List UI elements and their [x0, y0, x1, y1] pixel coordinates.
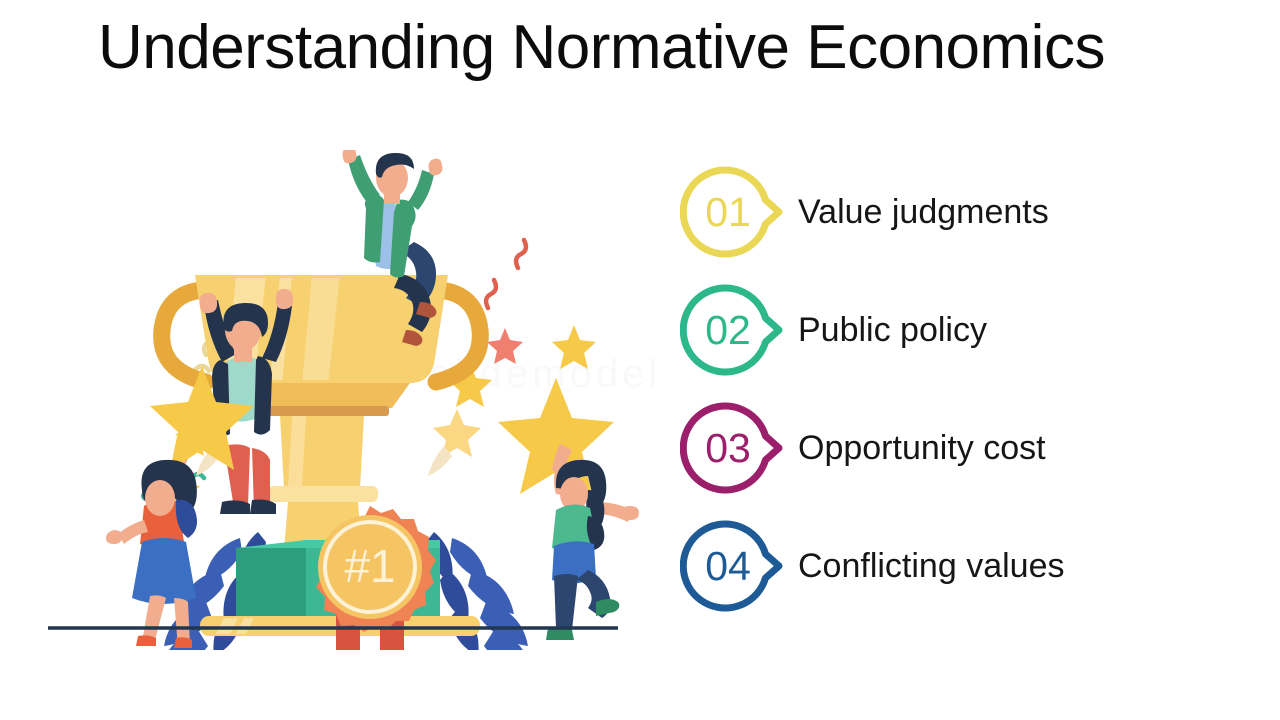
slide-canvas: Understanding Normative Economics slidem… [0, 0, 1280, 720]
step-badge-03: 03 [680, 396, 784, 500]
person-right-shoe-2 [596, 599, 619, 616]
step-item-03[interactable]: 03 Opportunity cost [680, 396, 1240, 500]
step-number-02: 02 [680, 278, 776, 382]
confetti-shooting-star [433, 409, 481, 457]
step-item-04[interactable]: 04 Conflicting values [680, 514, 1240, 618]
medal-label: #1 [344, 540, 395, 592]
confetti-right [486, 240, 526, 308]
step-number-04: 04 [680, 514, 776, 618]
step-label-02: Public policy [798, 313, 987, 347]
step-item-02[interactable]: 02 Public policy [680, 278, 1240, 382]
person-left-skirt [132, 538, 196, 604]
step-badge-01: 01 [680, 160, 784, 264]
step-badge-02: 02 [680, 278, 784, 382]
step-badge-04: 04 [680, 514, 784, 618]
trophy-celebration-illustration: #1 [40, 150, 660, 650]
step-number-01: 01 [680, 160, 776, 264]
confetti-star-coral-right [487, 328, 523, 364]
step-number-03: 03 [680, 396, 776, 500]
step-label-03: Opportunity cost [798, 431, 1046, 465]
step-item-01[interactable]: 01 Value judgments [680, 160, 1240, 264]
trophy-neck-band [255, 406, 389, 416]
trophy-collar [268, 486, 378, 502]
page-title: Understanding Normative Economics [98, 8, 1198, 88]
confetti-star-yellow-right-1 [552, 325, 596, 369]
steps-list: 01 Value judgments 02 Public policy 03 O… [680, 160, 1240, 630]
step-label-01: Value judgments [798, 195, 1049, 229]
step-label-04: Conflicting values [798, 549, 1064, 583]
person-right-woman [498, 378, 639, 640]
